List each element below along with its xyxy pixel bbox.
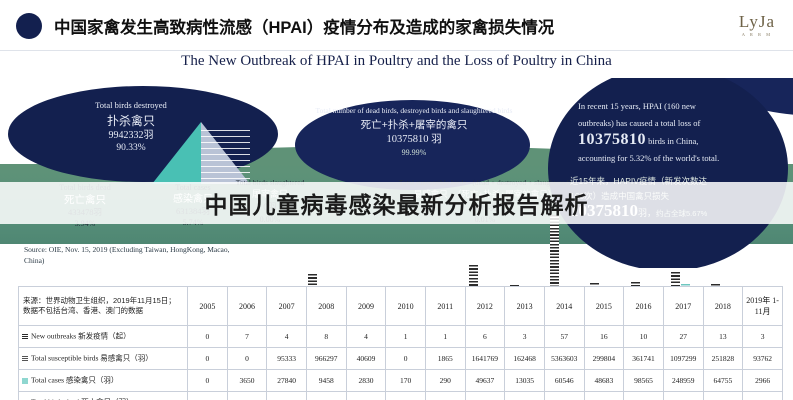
table-cell: 2966 — [743, 370, 783, 392]
summary-en-line2: outbreaks) has caused a total loss of — [578, 117, 778, 129]
overlay-title: 中国儿童病毒感染最新分析报告解析 — [205, 186, 589, 220]
table-row-label: New outbreaks 新发疫情（起） — [19, 326, 188, 348]
table-year-header-14: 2019年 1-11月 — [743, 287, 783, 326]
table-year-header-4: 2009 — [346, 287, 386, 326]
table-cell: 3 — [505, 326, 545, 348]
table-header-row: 来源：世界动物卫生组织，2019年11月15日；数据不包括台湾、香港、澳门的数据… — [19, 287, 783, 326]
table-row: New outbreaks 新发疫情（起）0748411635716102713… — [19, 326, 783, 348]
data-table-wrapper: 来源：世界动物卫生组织，2019年11月15日；数据不包括台湾、香港、澳门的数据… — [18, 286, 783, 398]
overlay-banner: 中国儿童病毒感染最新分析报告解析 — [0, 182, 793, 224]
stat-total-sum-en: Total number of dead birds, destroyed bi… — [300, 106, 528, 116]
table-cell: 8 — [306, 326, 346, 348]
table-year-header-6: 2011 — [425, 287, 465, 326]
stat-destroyed-pct: 90.33% — [36, 142, 226, 155]
table-row-label-text: Total cases 感染禽只（羽） — [31, 376, 118, 385]
table-cell: 1 — [386, 326, 426, 348]
summary-en-big-number: 10375810 — [578, 131, 646, 148]
table-row-label: Total birds dead 死亡禽只（羽） — [19, 392, 188, 400]
legend-swatch-icon — [22, 356, 28, 362]
table-cell: 1 — [425, 326, 465, 348]
table-cell: 0 — [227, 348, 267, 370]
table-cell: 0 — [188, 370, 228, 392]
table-cell: 27840 — [267, 370, 307, 392]
table-cell: 2019 — [346, 392, 386, 400]
summary-en-line1: In recent 15 years, HPAI (160 new — [578, 100, 778, 112]
table-cell: 3650 — [227, 370, 267, 392]
table-cell: 2478 — [743, 392, 783, 400]
table-cell: 95333 — [267, 348, 307, 370]
table-cell: 27 — [663, 326, 703, 348]
table-cell: 60546 — [544, 370, 584, 392]
table-row-label: Total cases 感染禽只（羽） — [19, 370, 188, 392]
table-cell: 7 — [227, 326, 267, 348]
page-title: 中国家禽发生高致病性流感（HPAI）疫情分布及造成的家禽损失情况 — [54, 14, 554, 38]
title-bar: 中国家禽发生高致病性流感（HPAI）疫情分布及造成的家禽损失情况 LyJa A … — [0, 0, 793, 51]
stat-total-sum-cn: 死亡+扑杀+屠宰的禽只 — [300, 118, 528, 133]
stat-destroyed: Total birds destroyed 扑杀禽只 9942332羽 90.3… — [36, 100, 226, 155]
stat-destroyed-value: 9942332羽 — [36, 129, 226, 142]
table-cell: 290 — [425, 370, 465, 392]
table-cell: 9458 — [306, 370, 346, 392]
stat-total-sum: Total number of dead birds, destroyed bi… — [300, 106, 528, 158]
table-cell: 93762 — [743, 348, 783, 370]
table-cell: 22128 — [584, 392, 624, 400]
table-year-header-5: 2010 — [386, 287, 426, 326]
table-cell: 3 — [743, 326, 783, 348]
table-cell: 4 — [346, 326, 386, 348]
table-cell: 248959 — [663, 370, 703, 392]
table-cell: 2830 — [346, 370, 386, 392]
logo-tagline: A R R M — [739, 32, 775, 37]
table-cell: 51566 — [544, 392, 584, 400]
table-cell: 48683 — [584, 370, 624, 392]
table-cell: 10 — [624, 326, 664, 348]
table-body: New outbreaks 新发疫情（起）0748411635716102713… — [19, 326, 783, 400]
table-year-header-8: 2013 — [505, 287, 545, 326]
table-cell: 18633 — [465, 392, 505, 400]
table-cell: 1865 — [425, 348, 465, 370]
table-cell: 299804 — [584, 348, 624, 370]
table-cell: 74643 — [624, 392, 664, 400]
table-cell: 0 — [386, 348, 426, 370]
table-cell: 155307 — [663, 392, 703, 400]
table-head: 来源：世界动物卫生组织，2019年11月15日；数据不包括台湾、香港、澳门的数据… — [19, 287, 783, 326]
table-cell: 0 — [188, 326, 228, 348]
table-cell: 4 — [267, 326, 307, 348]
table-year-header-10: 2015 — [584, 287, 624, 326]
table-year-header-3: 2008 — [306, 287, 346, 326]
legend-swatch-icon — [22, 334, 28, 340]
bar-susceptible — [469, 265, 478, 287]
table-row-label: Total susceptible birds 易感禽只（羽） — [19, 348, 188, 370]
table-cell: 40609 — [346, 348, 386, 370]
table-cell: 5363603 — [544, 348, 584, 370]
stat-destroyed-cn: 扑杀禽只 — [36, 113, 226, 129]
table-cell: 290 — [425, 392, 465, 400]
table-cell: 98565 — [624, 370, 664, 392]
table-row: Total cases 感染禽只（羽）036502784094582830170… — [19, 370, 783, 392]
stat-total-sum-value: 10375810 羽 — [300, 133, 528, 147]
table-cell: 1641769 — [465, 348, 505, 370]
table-cell: 64755 — [703, 370, 743, 392]
table-row: Total susceptible birds 易感禽只（羽）009533396… — [19, 348, 783, 370]
table-cell: 13 — [703, 326, 743, 348]
table-year-header-2: 2007 — [267, 287, 307, 326]
infographic-page: 中国家禽发生高致病性流感（HPAI）疫情分布及造成的家禽损失情况 LyJa A … — [0, 0, 793, 400]
table-cell: 162468 — [505, 348, 545, 370]
summary-english: In recent 15 years, HPAI (160 new outbre… — [578, 100, 778, 169]
title-bullet-icon — [16, 13, 42, 39]
table-cell: 966297 — [306, 348, 346, 370]
table-year-header-11: 2016 — [624, 287, 664, 326]
table-year-header-12: 2017 — [663, 287, 703, 326]
table-cell: 12535 — [505, 392, 545, 400]
legend-swatch-icon — [22, 378, 28, 384]
table-cell: 13035 — [505, 370, 545, 392]
summary-en-line4: accounting for 5.32% of the world's tota… — [578, 152, 778, 164]
brand-logo: LyJa A R R M — [739, 13, 775, 37]
table-cell: 3650 — [227, 392, 267, 400]
summary-en-line3: birds in China, — [646, 136, 698, 146]
table-cell: 6 — [465, 326, 505, 348]
subtitle: The New Outbreak of HPAI in Poultry and … — [0, 52, 793, 78]
table-cell: 251828 — [703, 348, 743, 370]
stat-destroyed-en: Total birds destroyed — [36, 100, 226, 111]
hpai-data-table: 来源：世界动物卫生组织，2019年11月15日；数据不包括台湾、香港、澳门的数据… — [18, 286, 783, 400]
table-row-label-text: Total susceptible birds 易感禽只（羽） — [31, 354, 153, 363]
table-row: Total birds dead 死亡禽只（羽）0365026532941020… — [19, 392, 783, 400]
bar-susceptible — [671, 272, 680, 287]
table-cell: 361741 — [624, 348, 664, 370]
table-cell: 26532 — [267, 392, 307, 400]
table-year-header-13: 2018 — [703, 287, 743, 326]
subtitle-text: The New Outbreak of HPAI in Poultry and … — [181, 53, 612, 69]
stat-total-sum-pct: 99.99% — [300, 147, 528, 158]
table-row-label-text: New outbreaks 新发疫情（起） — [31, 332, 131, 341]
mini-bar-chart — [177, 215, 782, 287]
table-cell: 170 — [386, 392, 426, 400]
table-cell: 9410 — [306, 392, 346, 400]
bar-susceptible — [550, 215, 559, 287]
table-cell: 0 — [188, 392, 228, 400]
table-year-header-7: 2012 — [465, 287, 505, 326]
table-cell: 54117 — [703, 392, 743, 400]
table-cell: 57 — [544, 326, 584, 348]
table-cell: 170 — [386, 370, 426, 392]
table-year-header-9: 2014 — [544, 287, 584, 326]
table-cell: 1097299 — [663, 348, 703, 370]
table-cell: 49637 — [465, 370, 505, 392]
table-source-note: 来源：世界动物卫生组织，2019年11月15日；数据不包括台湾、香港、澳门的数据 — [19, 287, 188, 326]
table-year-header-1: 2006 — [227, 287, 267, 326]
table-cell: 16 — [584, 326, 624, 348]
table-year-header-0: 2005 — [188, 287, 228, 326]
table-cell: 0 — [188, 348, 228, 370]
logo-wordmark: LyJa — [739, 13, 775, 30]
